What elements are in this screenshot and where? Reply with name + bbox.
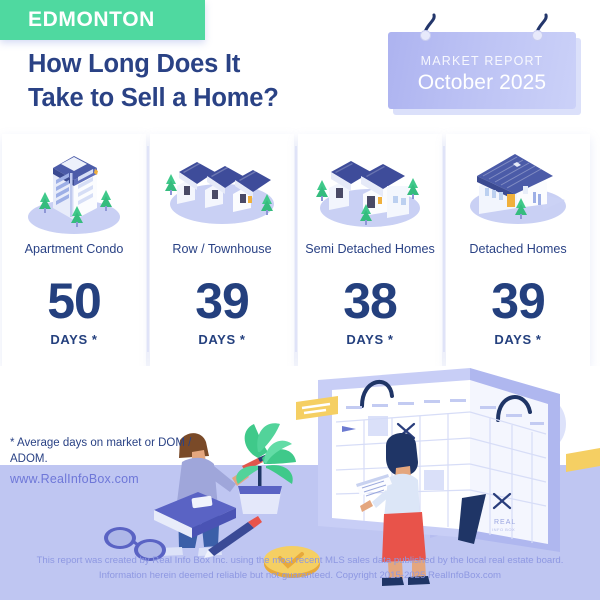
stat-card-unit: DAYS *: [198, 332, 245, 347]
svg-text:REAL: REAL: [494, 519, 516, 526]
stat-card-value: 38: [343, 276, 397, 326]
headline-line-2: Take to Sell a Home?: [28, 82, 368, 116]
footer-disclaimer: This report was created by Real Info Box…: [14, 554, 586, 584]
stat-card-unit: DAYS *: [346, 332, 393, 347]
svg-text:INFO BOX: INFO BOX: [492, 527, 515, 532]
header: EDMONTON How Long Does It Take to Sell a…: [0, 0, 600, 134]
stat-card-detached[interactable]: Detached Homes 39 DAYS *: [446, 134, 590, 366]
report-date: October 2025: [418, 71, 546, 95]
footnote-text: * Average days on market or DOM / ADOM.: [10, 435, 200, 468]
card-divider: [443, 146, 445, 352]
page-title: How Long Does It Take to Sell a Home?: [28, 48, 368, 116]
stat-cards-row: Apartment Condo 50 DAYS *: [0, 134, 600, 366]
row-townhouse-icon: [157, 142, 287, 240]
stat-card-title: Semi Detached Homes: [299, 242, 441, 274]
stat-card-title: Detached Homes: [463, 242, 572, 274]
potted-plant: [236, 423, 296, 514]
lower-section: REAL INFO BOX: [0, 366, 600, 600]
headline-line-1: How Long Does It: [28, 50, 240, 78]
tree-icon: [165, 174, 177, 195]
binder-ring-right-icon: [532, 30, 543, 41]
binder-ring-left-icon: [420, 30, 431, 41]
tree-icon: [316, 180, 328, 201]
stat-card-title: Apartment Condo: [19, 242, 130, 274]
stat-card-value: 39: [195, 276, 249, 326]
stat-card-row-townhouse[interactable]: Row / Townhouse 39 DAYS *: [150, 134, 294, 366]
semi-detached-icon: [305, 142, 435, 240]
stat-card-unit: DAYS *: [494, 332, 541, 347]
city-badge-label: EDMONTON: [0, 8, 155, 32]
apartment-condo-icon: [9, 142, 139, 240]
card-divider: [295, 146, 297, 352]
stat-card-apartment-condo[interactable]: Apartment Condo 50 DAYS *: [2, 134, 146, 366]
sticky-note-right: [566, 448, 600, 472]
website-link[interactable]: www.RealInfoBox.com: [10, 472, 139, 486]
stat-card-unit: DAYS *: [50, 332, 97, 347]
book-icon: [154, 492, 236, 538]
report-card-body: MARKET REPORT October 2025: [388, 32, 576, 109]
detached-home-icon: [453, 142, 583, 240]
stat-card-semi-detached[interactable]: Semi Detached Homes 38 DAYS *: [298, 134, 442, 366]
market-report-card: MARKET REPORT October 2025: [388, 14, 584, 112]
city-badge: EDMONTON: [0, 0, 205, 40]
stat-card-value: 50: [47, 276, 101, 326]
card-divider: [147, 146, 149, 352]
stat-card-title: Row / Townhouse: [166, 242, 277, 274]
stat-card-value: 39: [491, 276, 545, 326]
wall-calendar: REAL INFO BOX: [318, 368, 560, 552]
infographic-page: EDMONTON How Long Does It Take to Sell a…: [0, 0, 600, 600]
report-label: MARKET REPORT: [421, 54, 544, 68]
